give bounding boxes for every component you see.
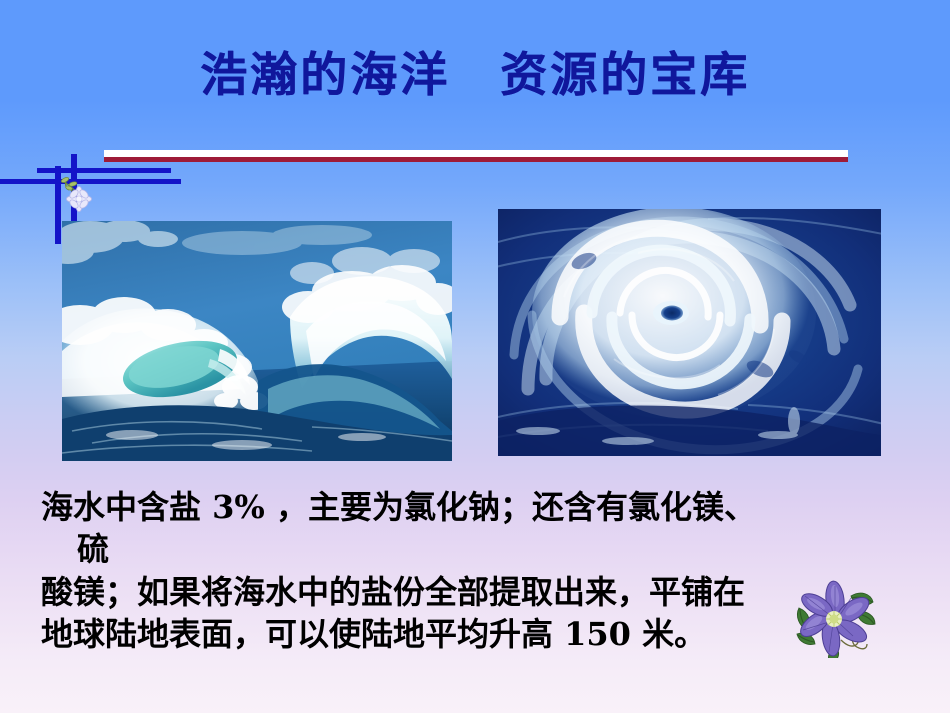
white-blossom-icon	[57, 176, 101, 220]
purple-clematis-icon	[793, 578, 877, 658]
ocean-wave-photo	[62, 221, 452, 461]
hurricane-satellite-photo	[498, 209, 881, 456]
presentation-slide: 浩瀚的海洋 资源的宝库	[0, 0, 950, 713]
deco-line-horizontal-short	[37, 168, 171, 173]
